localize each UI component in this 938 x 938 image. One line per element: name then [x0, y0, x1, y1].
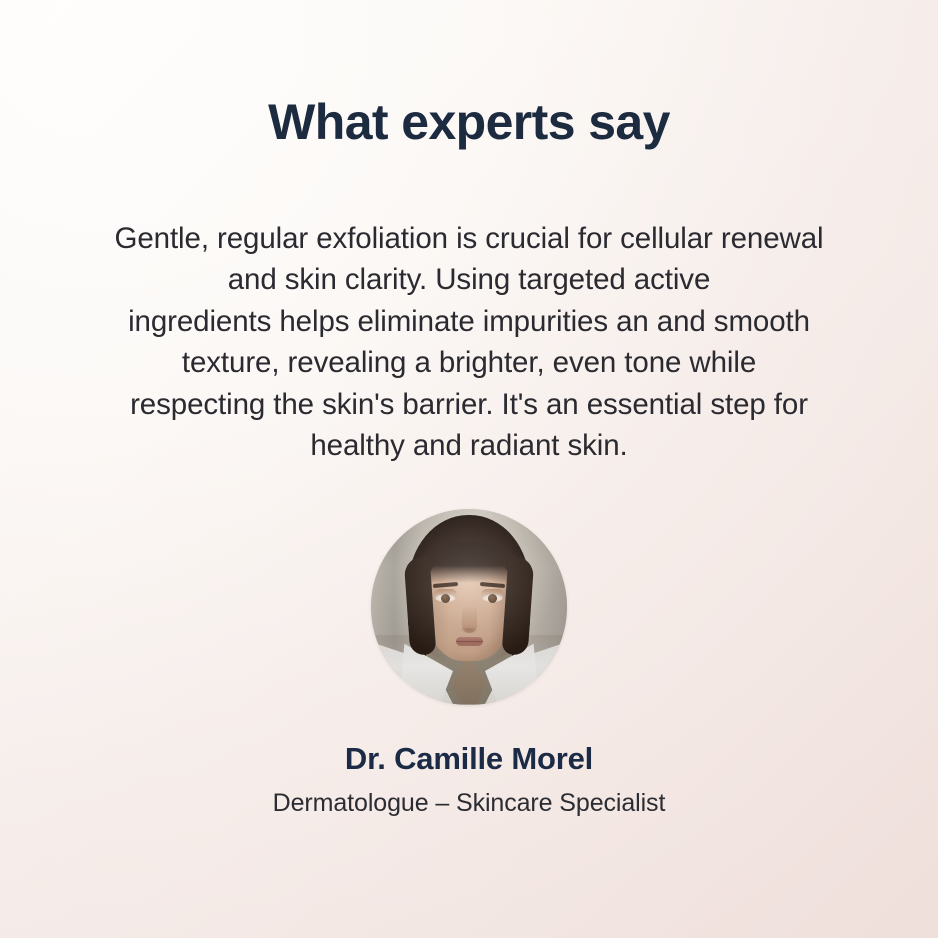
testimonial-card: What experts say Gentle, regular exfolia… — [0, 0, 938, 938]
quote-line: ingredients helps eliminate impurities a… — [59, 301, 879, 343]
page-title: What experts say — [268, 94, 670, 152]
quote-line: respecting the skin's barrier. It's an e… — [59, 384, 879, 426]
avatar — [371, 509, 567, 705]
person-name: Dr. Camille Morel — [345, 741, 593, 777]
expert-quote: Gentle, regular exfoliation is crucial f… — [59, 218, 879, 467]
person-role: Dermatologue – Skincare Specialist — [273, 789, 666, 818]
quote-line: and skin clarity. Using targeted active — [59, 259, 879, 301]
quote-line: texture, revealing a brighter, even tone… — [59, 342, 879, 384]
portrait-photo — [371, 509, 567, 705]
quote-line: Gentle, regular exfoliation is crucial f… — [59, 218, 879, 260]
photo-vignette — [371, 509, 567, 705]
quote-line: healthy and radiant skin. — [59, 425, 879, 467]
